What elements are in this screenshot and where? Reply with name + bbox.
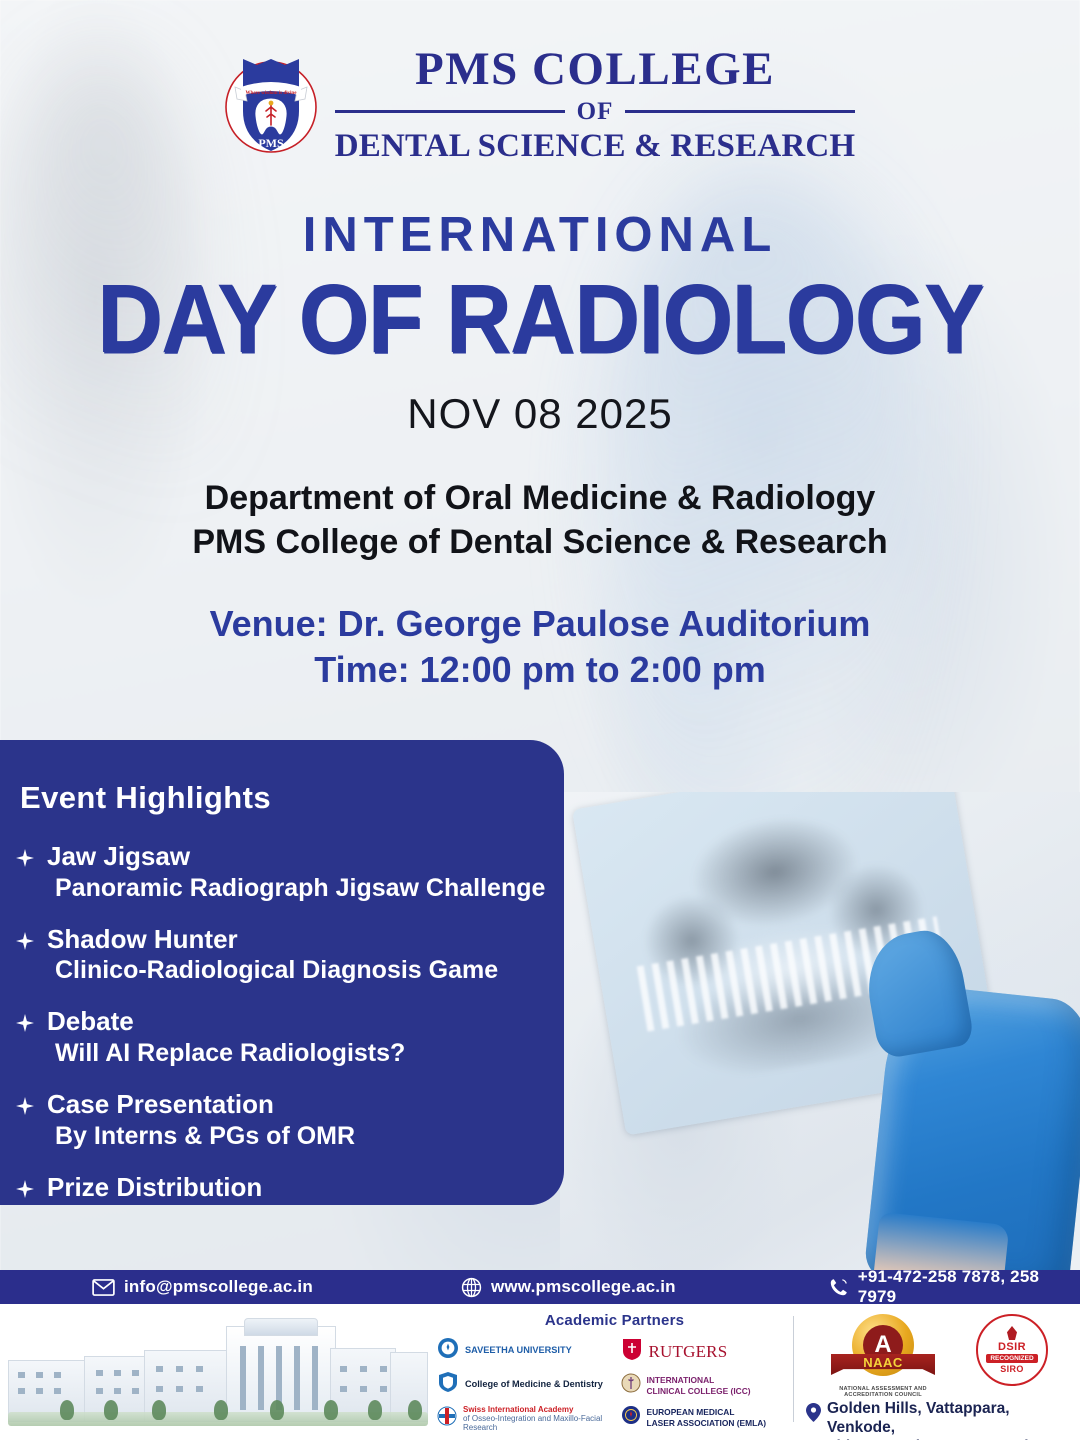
- contact-bar: info@pmscollege.ac.in www.pmscollege.ac.…: [0, 1270, 1080, 1304]
- partner-item: College of Medicine & Dentistry: [437, 1371, 609, 1398]
- sparkle-bullet-icon: [16, 1180, 34, 1203]
- svg-text:PMS: PMS: [258, 136, 284, 150]
- event-details-block: Venue: Dr. George Paulose Auditorium Tim…: [0, 601, 1080, 693]
- envelope-icon: [92, 1279, 115, 1296]
- highlight-item: Shadow Hunter Clinico-Radiological Diagn…: [16, 925, 564, 986]
- highlight-subtitle: By Interns & PGs of OMR: [47, 1121, 355, 1151]
- svg-text:COLLEGE OF DENTAL SCIENCE & RE: COLLEGE OF DENTAL SCIENCE & RESEARCH: [225, 51, 227, 53]
- globe-icon: [461, 1277, 482, 1298]
- contact-website-text: www.pmscollege.ac.in: [491, 1277, 676, 1297]
- partner-name: RUTGERS: [649, 1342, 728, 1362]
- sparkle-bullet-icon: [16, 932, 34, 986]
- highlight-item: Jaw Jigsaw Panoramic Radiograph Jigsaw C…: [16, 842, 564, 903]
- dsir-line2: RECOGNIZED: [986, 1354, 1037, 1363]
- dsir-line1: DSIR: [998, 1341, 1026, 1353]
- highlight-subtitle: Clinico-Radiological Diagnosis Game: [47, 955, 498, 985]
- rutgers-shield-icon: [621, 1337, 643, 1366]
- highlights-heading: Event Highlights: [20, 780, 564, 816]
- academic-partners-title: Academic Partners: [437, 1312, 792, 1329]
- contact-email-text: info@pmscollege.ac.in: [124, 1277, 313, 1297]
- college-name-line3: DENTAL SCIENCE & RESEARCH: [335, 129, 856, 164]
- footer: Academic Partners SAVEETHA UNIVERSITY Co…: [0, 1304, 1080, 1440]
- organizer-line2: PMS College of Dental Science & Research: [0, 520, 1080, 564]
- venue-text: Venue: Dr. George Paulose Auditorium: [0, 601, 1080, 647]
- highlight-item: Debate Will AI Replace Radiologists?: [16, 1007, 564, 1068]
- gloved-hand: [863, 982, 1080, 1282]
- college-emblem-icon: Where wisdom is divine PMS COLLEGE OF DE…: [225, 51, 317, 159]
- event-date: NOV 08 2025: [0, 390, 1080, 438]
- sparkle-bullet-icon: [16, 1097, 34, 1151]
- time-text: Time: 12:00 pm to 2:00 pm: [0, 647, 1080, 693]
- highlight-title: Shadow Hunter: [47, 924, 238, 954]
- highlights-list: Jaw Jigsaw Panoramic Radiograph Jigsaw C…: [16, 842, 564, 1202]
- partner-name: EUROPEAN MEDICALLASER ASSOCIATION (EMLA): [647, 1407, 767, 1429]
- divider-right: [625, 110, 855, 113]
- highlight-title: Jaw Jigsaw: [47, 841, 190, 871]
- naac-caption: NATIONAL ASSESSMENT AND ACCREDITATION CO…: [824, 1386, 942, 1398]
- partner-item: Swiss International Academy of Osseo-Int…: [437, 1405, 609, 1433]
- event-title: DAY OF RADIOLOGY: [0, 263, 1080, 375]
- partner-item: EUROPEAN MEDICALLASER ASSOCIATION (EMLA): [621, 1405, 793, 1430]
- dsir-line3: SIRO: [1000, 1364, 1024, 1374]
- college-name-line1: PMS COLLEGE: [415, 46, 775, 94]
- highlight-title: Prize Distribution: [47, 1172, 262, 1202]
- partner-item: RUTGERS: [621, 1337, 793, 1366]
- contact-email[interactable]: info@pmscollege.ac.in: [92, 1277, 313, 1297]
- highlight-title: Case Presentation: [47, 1089, 274, 1119]
- partner-name: SAVEETHA UNIVERSITY: [465, 1345, 572, 1356]
- emblem-icon: [1007, 1326, 1017, 1340]
- event-kicker: INTERNATIONAL: [0, 207, 1080, 263]
- partners-column-left: SAVEETHA UNIVERSITY College of Medicine …: [437, 1337, 609, 1440]
- highlight-subtitle: Will AI Replace Radiologists?: [47, 1038, 405, 1068]
- poster-root: Where wisdom is divine PMS COLLEGE OF DE…: [0, 0, 1080, 1440]
- college-name-divider-row: OF: [335, 98, 856, 126]
- sparkle-bullet-icon: [16, 849, 34, 903]
- event-highlights-panel: Event Highlights Jaw Jigsaw Panoramic Ra…: [0, 740, 564, 1205]
- organizer-line1: Department of Oral Medicine & Radiology: [0, 476, 1080, 520]
- address-block: Golden Hills, Vattappara, Venkode,Thiruv…: [800, 1400, 1072, 1440]
- highlight-item: Case Presentation By Interns & PGs of OM…: [16, 1090, 564, 1151]
- highlight-subtitle: Panoramic Radiograph Jigsaw Challenge: [47, 873, 545, 903]
- college-of-medicine-logo-icon: [437, 1371, 459, 1398]
- highlight-title: Debate: [47, 1006, 134, 1036]
- contact-phone-text: +91-472-258 7878, 258 7979: [858, 1267, 1080, 1307]
- footer-divider: [793, 1316, 794, 1422]
- sparkle-bullet-icon: [16, 1014, 34, 1068]
- divider-left: [335, 110, 565, 113]
- partner-name: Swiss International Academy of Osseo-Int…: [463, 1405, 609, 1433]
- partners-column-right: RUTGERS INTERNATIONALCLINICAL COLLEGE (I…: [621, 1337, 793, 1440]
- college-name-of: OF: [577, 98, 614, 126]
- partner-name: College of Medicine & Dentistry: [465, 1379, 603, 1390]
- icc-logo-icon: [621, 1373, 641, 1398]
- partner-item: INTERNATIONALCLINICAL COLLEGE (ICC): [621, 1373, 793, 1398]
- highlight-item: Prize Distribution: [16, 1173, 564, 1203]
- dsir-badge: DSIR RECOGNIZED SIRO: [976, 1314, 1048, 1386]
- header-logo-block: Where wisdom is divine PMS COLLEGE OF DE…: [0, 46, 1080, 164]
- contact-phone[interactable]: +91-472-258 7878, 258 7979: [828, 1267, 1080, 1307]
- college-wordmark: PMS COLLEGE OF DENTAL SCIENCE & RESEARCH: [335, 46, 856, 164]
- phone-icon: [828, 1277, 849, 1298]
- partner-item: SAVEETHA UNIVERSITY: [437, 1337, 609, 1364]
- xray-photo: [560, 792, 1080, 1282]
- accreditation-block: A NAAC NATIONAL ASSESSMENT AND ACCREDITA…: [800, 1310, 1072, 1440]
- partner-name: INTERNATIONALCLINICAL COLLEGE (ICC): [647, 1375, 751, 1397]
- address-text: Golden Hills, Vattappara, Venkode,Thiruv…: [827, 1400, 1072, 1440]
- academic-partners: Academic Partners SAVEETHA UNIVERSITY Co…: [437, 1312, 792, 1436]
- naac-badge: A NAAC NATIONAL ASSESSMENT AND ACCREDITA…: [824, 1314, 942, 1398]
- swiss-academy-logo-icon: [437, 1406, 457, 1431]
- emla-logo-icon: [621, 1405, 641, 1430]
- organizer-block: Department of Oral Medicine & Radiology …: [0, 476, 1080, 564]
- saveetha-logo-icon: [437, 1337, 459, 1364]
- location-pin-icon: [806, 1403, 821, 1427]
- svg-text:Where wisdom is divine: Where wisdom is divine: [245, 91, 297, 96]
- contact-website[interactable]: www.pmscollege.ac.in: [461, 1277, 676, 1298]
- campus-photo: [8, 1316, 428, 1428]
